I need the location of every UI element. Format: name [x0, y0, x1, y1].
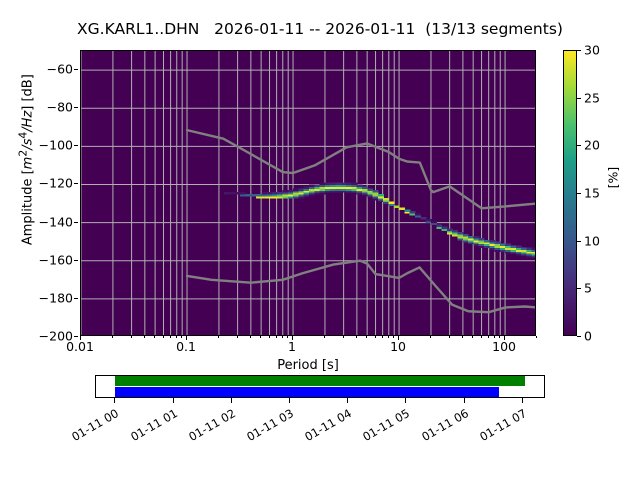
timeline-tick-label: 01-11 07 [473, 406, 528, 446]
timeline-tick-label: 01-11 03 [240, 406, 295, 446]
figure-canvas: XG.KARL1..DHN 2026-01-11 -- 2026-01-11 (… [0, 0, 640, 480]
timeline-tick-labels: 01-11 0001-11 0101-11 0201-11 0301-11 04… [0, 0, 640, 480]
timeline-tick-label: 01-11 02 [182, 406, 237, 446]
timeline-tick-label: 01-11 01 [124, 406, 179, 446]
timeline-tick-label: 01-11 06 [415, 406, 470, 446]
timeline-tick-label: 01-11 00 [66, 406, 121, 446]
timeline-tick-label: 01-11 04 [299, 406, 354, 446]
timeline-tick-label: 01-11 05 [357, 406, 412, 446]
